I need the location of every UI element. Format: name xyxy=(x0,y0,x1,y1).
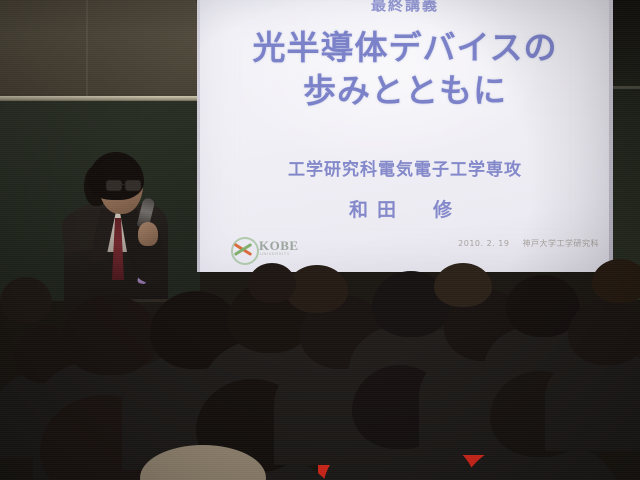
speaker-glasses-icon xyxy=(106,180,142,189)
slide-title-line-1: 光半導体デバイスの xyxy=(197,26,613,69)
glasses-lens-right xyxy=(125,180,141,191)
lecture-hall-photo: 最終講義 光半導体デバイスの 歩みとともに 工学研究科電気電子工学専攻 和田 修… xyxy=(0,0,640,480)
audience-head xyxy=(568,299,640,365)
projection-screen: 最終講義 光半導体デバイスの 歩みとともに 工学研究科電気電子工学専攻 和田 修… xyxy=(197,0,613,272)
slide-title: 光半導体デバイスの 歩みとともに xyxy=(197,26,613,112)
audience-head xyxy=(62,295,158,375)
audience-head xyxy=(592,259,640,303)
upper-wall xyxy=(0,0,200,98)
logo-x-icon xyxy=(233,242,253,256)
audience-torso xyxy=(545,352,640,451)
slide-title-line-2: 歩みとともに xyxy=(197,69,613,112)
audience-rows xyxy=(0,255,640,480)
glasses-lens-left xyxy=(106,180,122,191)
slide-footer-org: 神戸大学工学研究科 xyxy=(523,239,600,248)
slide-footer-date: 2010. 2. 19 xyxy=(458,239,509,248)
slide-footer-right: 2010. 2. 19 神戸大学工学研究科 xyxy=(458,238,599,249)
slide-presenter-name: 和田 修 xyxy=(197,195,613,222)
audience-head xyxy=(434,263,492,307)
right-wall-highlight xyxy=(612,86,640,89)
slide-subtitle: 工学研究科電気電子工学専攻 xyxy=(197,155,613,180)
slide-kicker: 最終講義 xyxy=(197,0,613,15)
speaker-hair xyxy=(88,152,144,200)
audience-head xyxy=(0,277,52,323)
wall-seam xyxy=(86,0,88,98)
speaker-hand xyxy=(138,222,158,246)
audience-head xyxy=(248,263,296,303)
